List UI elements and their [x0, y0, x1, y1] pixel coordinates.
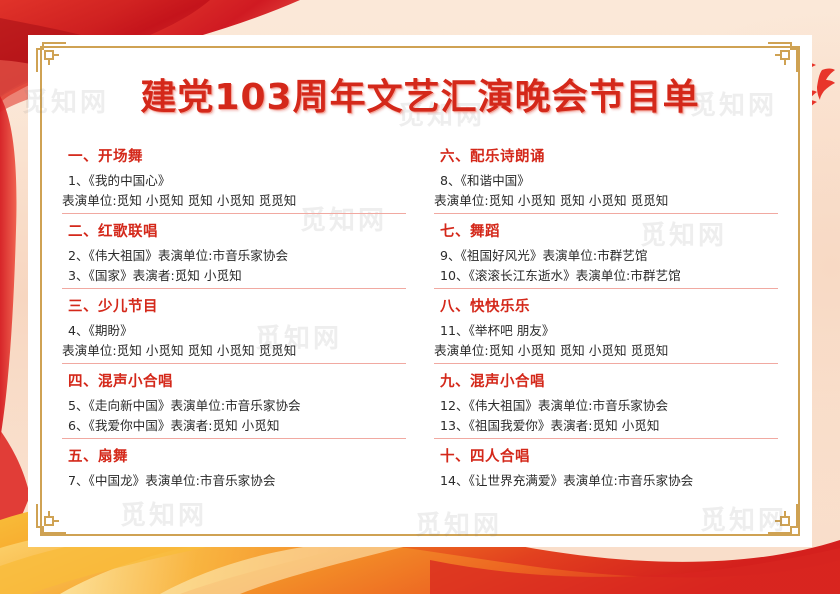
section-divider	[434, 288, 778, 289]
section-divider	[62, 288, 406, 289]
section-heading: 一、开场舞	[68, 148, 406, 167]
program-number: 12、	[440, 398, 469, 413]
program-title: 《和谐中国》	[461, 173, 530, 188]
performers-line: 表演单位:觅知 小觅知 觅知 小觅知 觅觅知	[434, 191, 778, 210]
program-number: 2、	[68, 248, 89, 263]
program-section: 三、少儿节目4、《期盼》表演单位:觅知 小觅知 觅知 小觅知 觅觅知	[62, 298, 406, 364]
program-column: 一、开场舞1、《我的中国心》表演单位:觅知 小觅知 觅知 小觅知 觅觅知二、红歌…	[62, 148, 406, 499]
program-section: 八、快快乐乐11、《举杯吧 朋友》表演单位:觅知 小觅知 觅知 小觅知 觅觅知	[434, 298, 778, 364]
program-column: 六、配乐诗朗诵8、《和谐中国》表演单位:觅知 小觅知 觅知 小觅知 觅觅知七、舞…	[434, 148, 778, 499]
program-number: 5、	[68, 398, 89, 413]
section-heading: 五、扇舞	[68, 448, 406, 467]
program-item: 3、《国家》表演者:觅知 小觅知	[68, 266, 406, 285]
program-title: 《滚滚长江东逝水》表演单位:市群艺馆	[469, 268, 681, 283]
program-item: 1、《我的中国心》	[68, 171, 406, 190]
program-number: 8、	[440, 173, 461, 188]
program-section: 九、混声小合唱12、《伟大祖国》表演单位:市音乐家协会13、《祖国我爱你》表演者…	[434, 373, 778, 439]
program-number: 13、	[440, 418, 469, 433]
program-item: 4、《期盼》	[68, 321, 406, 340]
program-item: 6、《我爱你中国》表演者:觅知 小觅知	[68, 416, 406, 435]
program-title: 《举杯吧 朋友》	[469, 323, 555, 338]
program-number: 11、	[440, 323, 469, 338]
section-heading: 六、配乐诗朗诵	[440, 148, 778, 167]
page-title: 建党103周年文艺汇演晚会节目单	[0, 68, 840, 120]
section-divider	[434, 438, 778, 439]
section-heading: 九、混声小合唱	[440, 373, 778, 392]
section-divider	[62, 213, 406, 214]
program-item: 9、《祖国好风光》表演单位:市群艺馆	[440, 246, 778, 265]
program-number: 1、	[68, 173, 89, 188]
program-item: 5、《走向新中国》表演单位:市音乐家协会	[68, 396, 406, 415]
program-title: 《祖国好风光》表演单位:市群艺馆	[461, 248, 648, 263]
program-title: 《伟大祖国》表演单位:市音乐家协会	[89, 248, 288, 263]
performers-line: 表演单位:觅知 小觅知 觅知 小觅知 觅觅知	[62, 191, 406, 210]
section-divider	[62, 438, 406, 439]
section-heading: 八、快快乐乐	[440, 298, 778, 317]
poster-root: 觅知网 觅知网 觅知网 觅知网 觅知网 觅知网 觅知网 觅知网 觅知网 建党10…	[0, 0, 840, 594]
program-number: 3、	[68, 268, 89, 283]
program-item: 11、《举杯吧 朋友》	[440, 321, 778, 340]
performers-line: 表演单位:觅知 小觅知 觅知 小觅知 觅觅知	[434, 341, 778, 360]
performers-line: 表演单位:觅知 小觅知 觅知 小觅知 觅觅知	[62, 341, 406, 360]
section-heading: 三、少儿节目	[68, 298, 406, 317]
program-item: 2、《伟大祖国》表演单位:市音乐家协会	[68, 246, 406, 265]
program-item: 13、《祖国我爱你》表演者:觅知 小觅知	[440, 416, 778, 435]
program-columns: 一、开场舞1、《我的中国心》表演单位:觅知 小觅知 觅知 小觅知 觅觅知二、红歌…	[62, 148, 778, 499]
program-section: 六、配乐诗朗诵8、《和谐中国》表演单位:觅知 小觅知 觅知 小觅知 觅觅知	[434, 148, 778, 214]
section-divider	[62, 363, 406, 364]
program-title: 《期盼》	[89, 323, 133, 338]
section-heading: 二、红歌联唱	[68, 223, 406, 242]
section-divider	[434, 213, 778, 214]
program-item: 7、《中国龙》表演单位:市音乐家协会	[68, 471, 406, 490]
program-item: 10、《滚滚长江东逝水》表演单位:市群艺馆	[440, 266, 778, 285]
program-title: 《中国龙》表演单位:市音乐家协会	[89, 473, 276, 488]
program-number: 14、	[440, 473, 469, 488]
section-heading: 七、舞蹈	[440, 223, 778, 242]
section-heading: 十、四人合唱	[440, 448, 778, 467]
program-title: 《我爱你中国》表演者:觅知 小觅知	[89, 418, 280, 433]
section-divider	[434, 363, 778, 364]
program-title: 《走向新中国》表演单位:市音乐家协会	[89, 398, 301, 413]
program-title: 《国家》表演者:觅知 小觅知	[89, 268, 242, 283]
program-section: 七、舞蹈9、《祖国好风光》表演单位:市群艺馆10、《滚滚长江东逝水》表演单位:市…	[434, 223, 778, 289]
program-section: 二、红歌联唱2、《伟大祖国》表演单位:市音乐家协会3、《国家》表演者:觅知 小觅…	[62, 223, 406, 289]
program-number: 9、	[440, 248, 461, 263]
program-section: 四、混声小合唱5、《走向新中国》表演单位:市音乐家协会6、《我爱你中国》表演者:…	[62, 373, 406, 439]
program-title: 《祖国我爱你》表演者:觅知 小觅知	[469, 418, 660, 433]
program-item: 14、《让世界充满爱》表演单位:市音乐家协会	[440, 471, 778, 490]
program-number: 10、	[440, 268, 469, 283]
program-section: 十、四人合唱14、《让世界充满爱》表演单位:市音乐家协会	[434, 448, 778, 490]
program-title: 《我的中国心》	[89, 173, 171, 188]
program-number: 6、	[68, 418, 89, 433]
section-heading: 四、混声小合唱	[68, 373, 406, 392]
program-title: 《让世界充满爱》表演单位:市音乐家协会	[469, 473, 694, 488]
program-section: 五、扇舞7、《中国龙》表演单位:市音乐家协会	[62, 448, 406, 490]
program-title: 《伟大祖国》表演单位:市音乐家协会	[469, 398, 668, 413]
program-number: 7、	[68, 473, 89, 488]
program-number: 4、	[68, 323, 89, 338]
program-section: 一、开场舞1、《我的中国心》表演单位:觅知 小觅知 觅知 小觅知 觅觅知	[62, 148, 406, 214]
program-item: 8、《和谐中国》	[440, 171, 778, 190]
program-item: 12、《伟大祖国》表演单位:市音乐家协会	[440, 396, 778, 415]
